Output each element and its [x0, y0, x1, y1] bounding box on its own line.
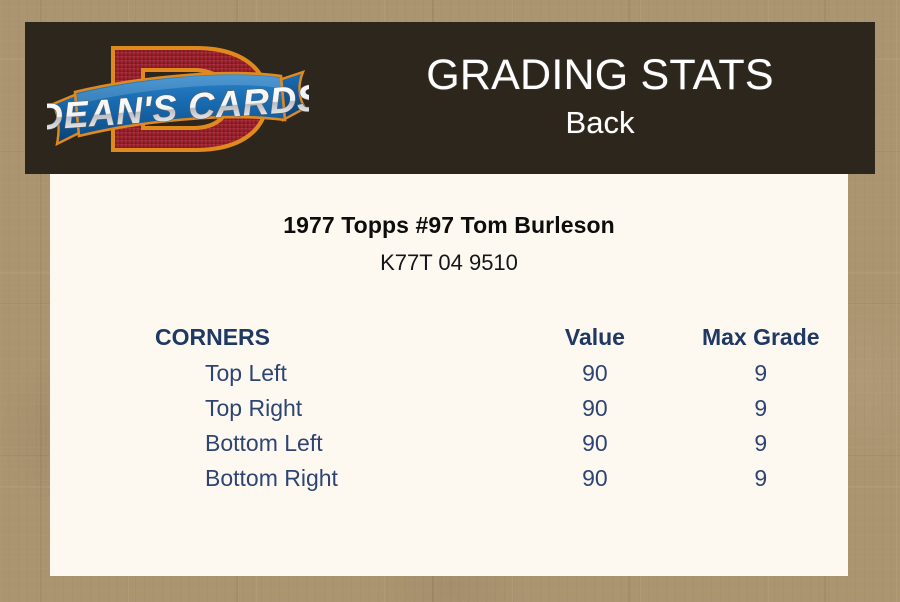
grading-stats-panel: 1977 Topps #97 Tom Burleson K77T 04 9510…: [50, 174, 848, 576]
row-label: Bottom Left: [50, 426, 516, 461]
row-value: 90: [516, 356, 673, 391]
table-header: CORNERS Value Max Grade: [50, 319, 848, 356]
row-value: 90: [516, 391, 673, 426]
table-row: Bottom Left 90 9: [50, 426, 848, 461]
table-body: Top Left 90 9 Top Right 90 9 Bottom Left…: [50, 356, 848, 496]
deans-cards-logo-icon: DEAN'S CARDS: [47, 28, 309, 170]
row-label: Top Left: [50, 356, 516, 391]
deans-cards-logo[interactable]: DEAN'S CARDS: [47, 28, 309, 170]
table-row: Top Right 90 9: [50, 391, 848, 426]
header-titles: GRADING STATS Back: [325, 22, 875, 174]
card-title: 1977 Topps #97 Tom Burleson: [50, 212, 848, 239]
row-value: 90: [516, 426, 673, 461]
row-max-grade: 9: [674, 426, 848, 461]
row-label: Bottom Right: [50, 461, 516, 496]
page-title: GRADING STATS: [426, 53, 773, 98]
row-max-grade: 9: [674, 356, 848, 391]
row-label: Top Right: [50, 391, 516, 426]
page-subtitle: Back: [566, 104, 635, 143]
table-row: Top Left 90 9: [50, 356, 848, 391]
card-serial-number: K77T 04 9510: [50, 250, 848, 276]
table-row: Bottom Right 90 9: [50, 461, 848, 496]
column-header-corners: CORNERS: [50, 319, 516, 356]
column-header-value: Value: [516, 319, 673, 356]
row-max-grade: 9: [674, 461, 848, 496]
grading-stats-table: CORNERS Value Max Grade Top Left 90 9 To…: [50, 319, 848, 496]
column-header-max-grade: Max Grade: [674, 319, 848, 356]
table-header-row: CORNERS Value Max Grade: [50, 319, 848, 356]
header-bar: DEAN'S CARDS GRADING STATS Back: [25, 22, 875, 174]
row-value: 90: [516, 461, 673, 496]
row-max-grade: 9: [674, 391, 848, 426]
